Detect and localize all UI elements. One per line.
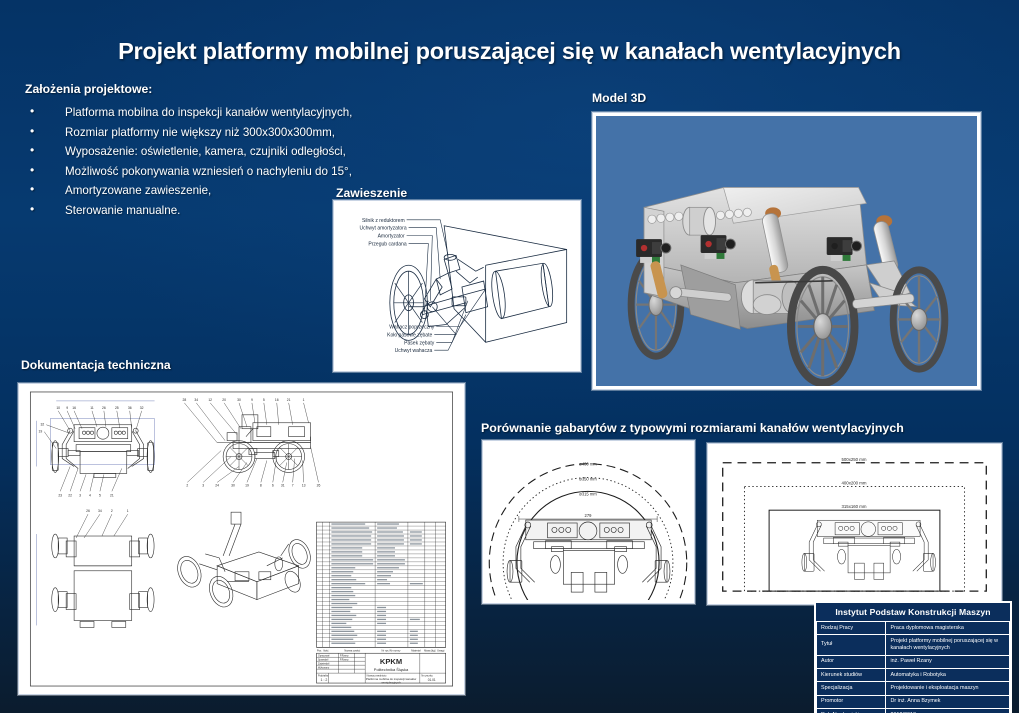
svg-text:Nr rys./Nr normy: Nr rys./Nr normy [382, 648, 402, 652]
model-3d-panel [592, 112, 981, 390]
rect-label-500: 500x250 mm [841, 457, 866, 462]
svg-text:4: 4 [89, 493, 91, 497]
round-duct-diagram-viewport: ø400 mm ø350 mm ø315 mm 279 [486, 444, 691, 600]
svg-text:Sprawdził: Sprawdził [318, 659, 329, 662]
svg-text:2: 2 [111, 509, 113, 513]
info-value: inż. Paweł Rzany [886, 655, 1010, 668]
rect-label-315: 315x160 mm [841, 504, 866, 509]
svg-text:26: 26 [317, 483, 321, 487]
svg-text:16: 16 [275, 398, 279, 402]
wheel-rear-right [893, 270, 945, 369]
section-heading-suspension: Zawieszenie [336, 186, 407, 200]
svg-text:21: 21 [287, 398, 291, 402]
rect-label-400: 400x200 mm [841, 481, 866, 486]
poster-canvas: Projekt platformy mobilnej poruszającej … [0, 0, 1019, 713]
section-heading-techdoc: Dokumentacja techniczna [21, 358, 171, 372]
round-duct-diagram: ø400 mm ø350 mm ø315 mm 279 [486, 444, 691, 600]
svg-text:23: 23 [58, 493, 62, 497]
svg-text:9: 9 [66, 406, 68, 410]
table-row: Kierunek studiów Automatyka i Robotyka [817, 669, 1010, 682]
susp-label-cardan: Przegub cardana [368, 241, 406, 247]
susp-label-shock-mount: Uchwyt amortyzatora [360, 226, 407, 232]
rect-duct-comparison-panel: 500x250 mm 400x200 mm 315x160 mm [707, 443, 1002, 605]
svg-text:3: 3 [79, 493, 81, 497]
svg-text:30: 30 [231, 483, 235, 487]
svg-text:32: 32 [140, 406, 144, 410]
university-name: Politechnika Śląska [374, 667, 409, 672]
svg-text:5: 5 [99, 493, 101, 497]
svg-text:Materiał: Materiał [411, 648, 421, 652]
svg-text:26: 26 [102, 406, 106, 410]
table-row: Specjalizacja Projektowanie i eksploatac… [817, 682, 1010, 695]
table-row: Rodzaj Pracy Praca dyplomowa magisterska [817, 622, 1010, 635]
svg-text:Masa [kg]: Masa [kg] [424, 648, 435, 652]
svg-text:21: 21 [110, 493, 114, 497]
suspension-diagram-viewport: Silnik z reduktorem Uchwyt amortyzatora … [337, 204, 577, 368]
susp-label-pulley: Koło pasowe zębate [387, 332, 432, 338]
svg-text:12: 12 [208, 398, 212, 402]
list-item: Rozmiar platformy nie większy niż 300x30… [25, 123, 445, 143]
rect-duct-diagram-viewport: 500x250 mm 400x200 mm 315x160 mm [711, 447, 998, 601]
drawing-title-2: wentylacyjnych [381, 681, 401, 685]
info-key: Kierunek studiów [817, 669, 886, 682]
list-item: Platforma mobilna do inspekcji kanałów w… [25, 103, 445, 123]
svg-text:10: 10 [56, 406, 60, 410]
info-value: Dr inż. Anna Bzymek [886, 695, 1010, 708]
svg-text:7: 7 [292, 483, 294, 487]
info-key: Specjalizacja [817, 682, 886, 695]
info-key: Promotor [817, 695, 886, 708]
svg-text:2: 2 [186, 483, 188, 487]
info-value: Projekt platformy mobilnej poruszającej … [886, 635, 1010, 656]
parts-list-table: Poz. Ilość Nazwa części Nr rys./Nr normy… [317, 522, 446, 653]
svg-text:Podziałka: Podziałka [318, 674, 329, 677]
svg-text:31: 31 [281, 483, 285, 487]
platform-width-label: 279 [585, 513, 593, 518]
institute-name: Instytut Podstaw Konstrukcji Maszyn [816, 603, 1010, 621]
info-value: Automatyka i Robotyka [886, 669, 1010, 682]
svg-text:26: 26 [86, 509, 90, 513]
svg-text:32: 32 [41, 423, 45, 427]
svg-text:34: 34 [98, 509, 102, 513]
drawing-number: 01.01 [428, 678, 436, 682]
info-value: 2012/2013 [886, 709, 1010, 713]
susp-label-arm-mount: Uchwyt wahacza [395, 348, 433, 354]
svg-text:16: 16 [72, 406, 76, 410]
susp-label-motor: Silnik z reduktorem [362, 218, 405, 224]
table-row: Rok Akademicki 2012/2013 [817, 709, 1010, 713]
svg-text:28: 28 [183, 398, 187, 402]
info-table-body: Rodzaj Pracy Praca dyplomowa magisterska… [816, 621, 1010, 713]
thesis-info-table: Instytut Podstaw Konstrukcji Maszyn Rodz… [814, 601, 1012, 713]
svg-text:13: 13 [302, 483, 306, 487]
susp-label-wishbone: Wahacz poprzeczny [389, 324, 434, 330]
svg-text:1: 1 [127, 509, 129, 513]
svg-text:11: 11 [90, 406, 94, 410]
page-title: Projekt platformy mobilnej poruszającej … [0, 38, 1019, 65]
svg-text:Opracował: Opracował [318, 655, 330, 658]
svg-text:19: 19 [39, 430, 43, 434]
table-row: Autor inż. Paweł Rzany [817, 655, 1010, 668]
technical-drawing-viewport: 10916 1126 253632 3219 23223 4521 [22, 387, 461, 691]
section-heading-model3d: Model 3D [592, 91, 646, 105]
svg-text:36: 36 [128, 406, 132, 410]
svg-text:24: 24 [215, 483, 219, 487]
technical-documentation-panel: 10916 1126 253632 3219 23223 4521 [18, 383, 465, 695]
svg-text:5: 5 [263, 398, 265, 402]
svg-text:P.Rzany: P.Rzany [340, 655, 349, 658]
model-3d-viewport [596, 116, 977, 386]
svg-text:6: 6 [272, 483, 274, 487]
svg-text:Nazwa części: Nazwa części [344, 648, 360, 652]
list-item: Możliwość pokonywania wzniesień o nachyl… [25, 162, 445, 182]
svg-text:Ilość: Ilość [323, 648, 329, 652]
assumptions-heading: Założenia projektowe: [25, 82, 445, 96]
suspension-diagram: Silnik z reduktorem Uchwyt amortyzatora … [337, 204, 577, 368]
info-value: Projektowanie i eksploatacja maszyn [886, 682, 1010, 695]
svg-text:P.Rzany: P.Rzany [340, 659, 349, 662]
table-row: Promotor Dr inż. Anna Bzymek [817, 695, 1010, 708]
svg-text:3: 3 [202, 483, 204, 487]
list-item: Wyposażenie: oświetlenie, kamera, czujni… [25, 142, 445, 162]
camera-module [683, 207, 716, 235]
info-key: Tytuł [817, 635, 886, 656]
suspension-panel: Silnik z reduktorem Uchwyt amortyzatora … [333, 200, 581, 372]
table-row: Tytuł Projekt platformy mobilnej porusza… [817, 635, 1010, 656]
duct-label-315: ø315 mm [579, 491, 597, 496]
technical-drawing: 10916 1126 253632 3219 23223 4521 [22, 387, 461, 691]
svg-text:20: 20 [222, 398, 226, 402]
svg-text:19: 19 [245, 483, 249, 487]
svg-text:9: 9 [251, 398, 253, 402]
wheel-front-center [791, 270, 855, 383]
svg-text:30: 30 [237, 398, 241, 402]
svg-text:8: 8 [260, 483, 262, 487]
duct-label-400: ø400 mm [579, 462, 597, 467]
drawing-title-block: OpracowałP.Rzany SprawdziłP.Rzany Zatwie… [317, 653, 446, 684]
svg-text:Uwagi: Uwagi [437, 648, 445, 652]
svg-text:25: 25 [115, 406, 119, 410]
info-key: Rok Akademicki [817, 709, 886, 713]
info-key: Rodzaj Pracy [817, 622, 886, 635]
susp-label-belt: Pasek zębaty [404, 340, 435, 346]
svg-text:Poz.: Poz. [317, 648, 322, 652]
robot-3d-render [596, 116, 977, 386]
svg-text:22: 22 [68, 493, 72, 497]
svg-text:1: 1 [303, 398, 305, 402]
svg-text:Nr rysunku: Nr rysunku [421, 674, 433, 677]
drawing-scale: 1 : 2 [320, 678, 327, 682]
duct-label-350: ø350 mm [579, 477, 597, 482]
svg-text:34: 34 [194, 398, 198, 402]
svg-text:Zatwierdził: Zatwierdził [318, 662, 330, 665]
section-heading-comparison: Porównanie gabarytów z typowymi rozmiara… [481, 421, 904, 435]
svg-text:Wykonano: Wykonano [318, 666, 330, 669]
info-key: Autor [817, 655, 886, 668]
round-duct-comparison-panel: ø400 mm ø350 mm ø315 mm 279 [482, 440, 695, 604]
info-value: Praca dyplomowa magisterska [886, 622, 1010, 635]
rect-duct-diagram: 500x250 mm 400x200 mm 315x160 mm [711, 447, 998, 601]
susp-label-shock: Amortyzator [378, 234, 405, 240]
org-abbrev: KPKM [380, 657, 402, 666]
